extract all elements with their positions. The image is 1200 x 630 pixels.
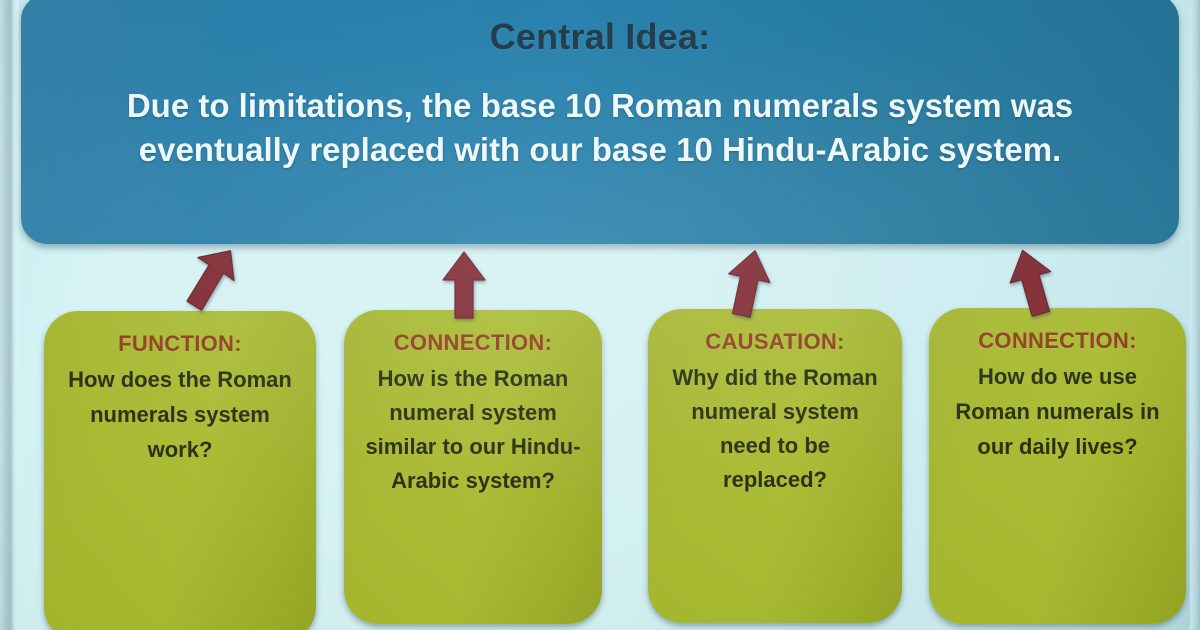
card-label: CONNECTION:	[356, 330, 590, 356]
card-question: Why did the Roman numeral system need to…	[660, 361, 890, 497]
arrow-up-tilt-left-icon	[1006, 247, 1062, 321]
central-idea-statement: Due to limitations, the base 10 Roman nu…	[60, 84, 1140, 172]
arrow-up-right-icon	[176, 248, 238, 320]
central-idea-label: Central Idea:	[490, 16, 711, 58]
board-right-edge	[1190, 0, 1200, 630]
question-card-connection-daily-life[interactable]: CONNECTION: How do we use Roman numerals…	[929, 308, 1186, 624]
card-label: CONNECTION:	[941, 328, 1174, 354]
card-question: How does the Roman numerals system work?	[56, 363, 304, 467]
concept-map-stage: Central Idea: Due to limitations, the ba…	[0, 0, 1200, 630]
question-card-function[interactable]: FUNCTION: How does the Roman numerals sy…	[44, 311, 316, 630]
card-question: How is the Roman numeral system similar …	[356, 362, 590, 498]
arrow-up-icon	[440, 250, 488, 320]
card-label: CAUSATION:	[660, 329, 890, 355]
card-label: FUNCTION:	[56, 331, 304, 357]
board-left-edge	[0, 0, 19, 630]
card-question: How do we use Roman numerals in our dail…	[941, 360, 1174, 464]
question-card-causation[interactable]: CAUSATION: Why did the Roman numeral sys…	[648, 309, 902, 623]
arrow-up-tilt-right-icon	[724, 248, 776, 320]
central-idea-banner: Central Idea: Due to limitations, the ba…	[21, 0, 1179, 244]
question-card-connection-similarity[interactable]: CONNECTION: How is the Roman numeral sys…	[344, 310, 602, 624]
